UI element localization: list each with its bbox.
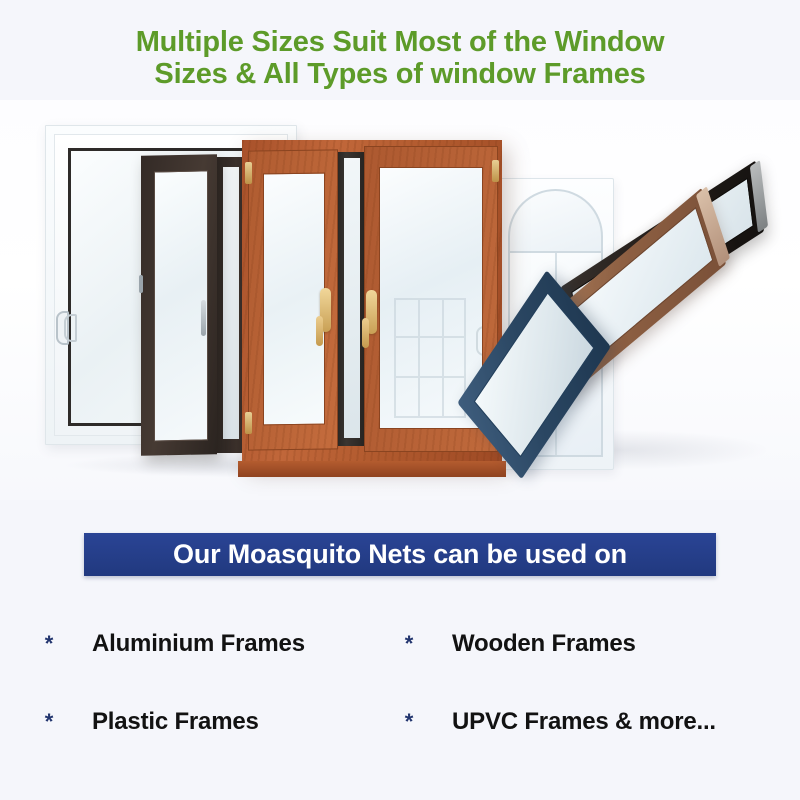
list-item: * Aluminium Frames: [40, 605, 400, 683]
dark-window-hinge-icon: [139, 275, 143, 293]
list-item-label: Aluminium Frames: [92, 630, 305, 658]
headline-line-2: Sizes & All Types of window Frames: [0, 58, 800, 90]
asterisk-icon: *: [400, 711, 418, 733]
section-banner-label: Our Moasquito Nets can be used on: [173, 539, 627, 570]
window-frames-photo: [0, 100, 800, 500]
wooden-window-sill: [238, 461, 506, 477]
list-item: * UPVC Frames & more...: [400, 683, 760, 761]
headline-line-1: Multiple Sizes Suit Most of the Window: [0, 26, 800, 58]
dark-window-glass-strip-1: [223, 167, 239, 439]
wooden-window-hinge-icon-1: [492, 160, 499, 182]
white-window-handle-shadow-icon: [64, 314, 77, 342]
glass-reflection-handle-icon: [476, 326, 483, 356]
wooden-window-center-reveal: [338, 152, 366, 446]
asterisk-icon: *: [400, 633, 418, 655]
wooden-window-handle-lever-right: [362, 318, 369, 348]
dark-window-leaf-glass: [154, 170, 208, 441]
frame-types-list: * Aluminium Frames * Wooden Frames * Pla…: [40, 605, 760, 761]
glass-reflection-grid: [394, 298, 466, 418]
wooden-window-left-glass: [263, 173, 325, 426]
list-item: * Wooden Frames: [400, 605, 760, 683]
list-item-label: Plastic Frames: [92, 708, 259, 736]
page-title: Multiple Sizes Suit Most of the Window S…: [0, 26, 800, 90]
promo-banner-page: Multiple Sizes Suit Most of the Window S…: [0, 0, 800, 800]
wooden-casement-window: [242, 140, 502, 465]
wooden-window-hinge-icon-4: [245, 412, 252, 434]
dark-window-handle-icon-1: [201, 300, 206, 336]
list-item-label: Wooden Frames: [452, 630, 636, 658]
wooden-window-hinge-icon-3: [245, 162, 252, 184]
asterisk-icon: *: [40, 711, 58, 733]
wooden-window-center-glass: [344, 158, 360, 438]
arch-top: [508, 189, 603, 257]
list-item-label: UPVC Frames & more...: [452, 708, 716, 736]
wooden-window-handle-lever-left: [316, 316, 323, 346]
asterisk-icon: *: [40, 633, 58, 655]
section-banner: Our Moasquito Nets can be used on: [84, 533, 716, 576]
list-item: * Plastic Frames: [40, 683, 400, 761]
